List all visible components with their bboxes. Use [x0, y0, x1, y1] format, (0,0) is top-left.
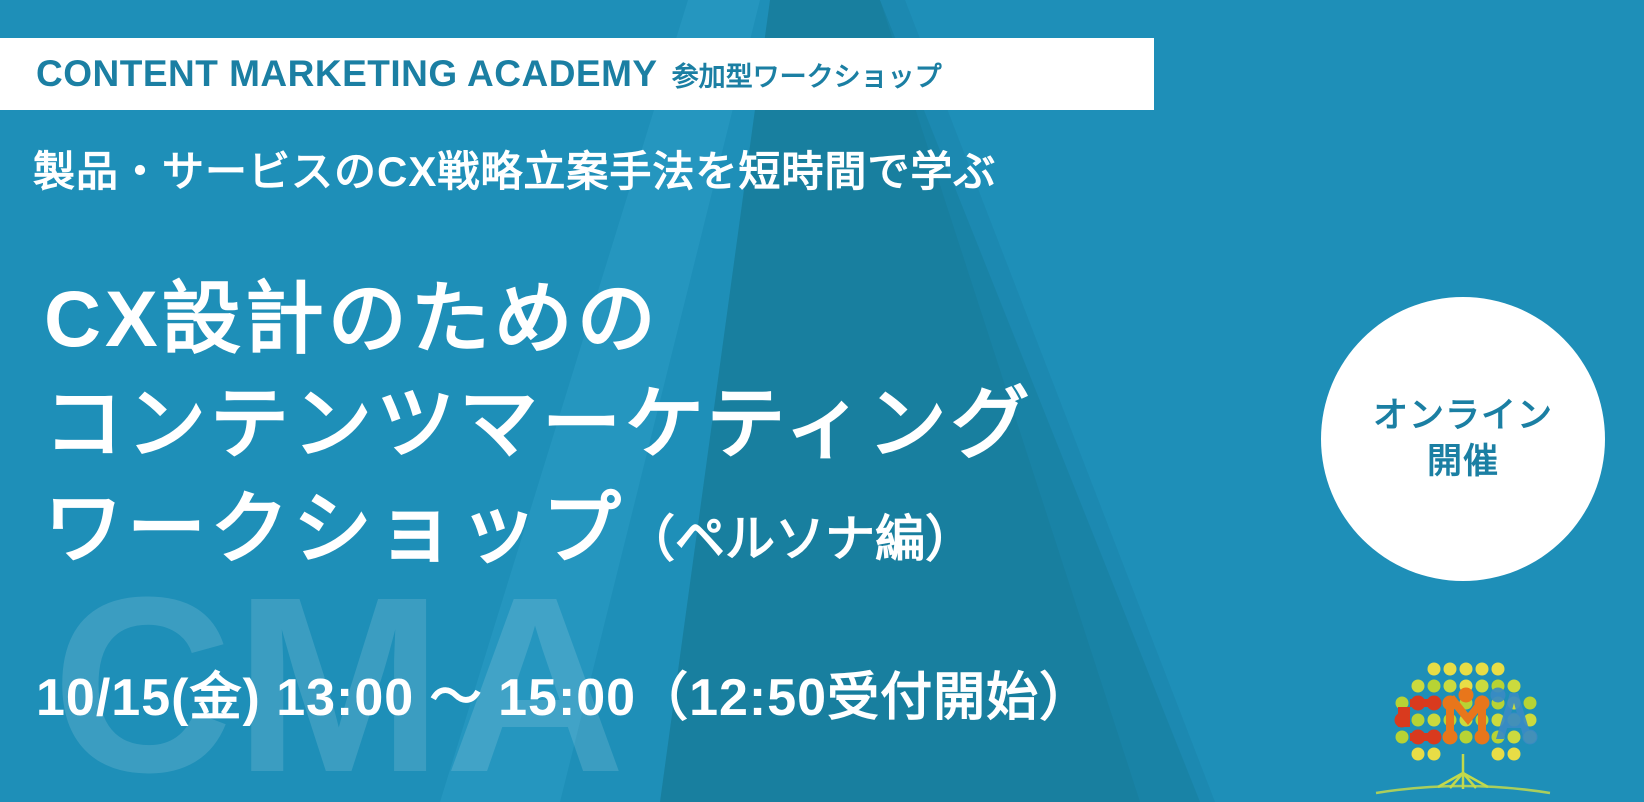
main-title-line-1: CX設計のための	[44, 266, 1034, 371]
event-poster: CMA CONTENT MARKETING ACADEMY 参加型ワークショップ…	[0, 0, 1644, 802]
online-badge-line-2: 開催	[1427, 439, 1499, 485]
header-band: CONTENT MARKETING ACADEMY 参加型ワークショップ	[0, 38, 1154, 110]
tree-trunk	[1438, 754, 1488, 789]
main-title-line-2: コンテンツマーケティング	[44, 371, 1034, 476]
main-title: CX設計のための コンテンツマーケティング ワークショップ（ペルソナ編）	[44, 266, 1034, 581]
cma-tree-logo	[1368, 645, 1558, 802]
header-title-japanese: 参加型ワークショップ	[672, 55, 942, 94]
online-badge-line-1: オンライン	[1373, 393, 1553, 439]
main-title-line-3-sub: （ペルソナ編）	[625, 511, 975, 567]
subtitle-text: 製品・サービスのCX戦略立案手法を短時間で学ぶ	[33, 138, 996, 199]
schedule-text: 10/15(金) 13:00 〜 15:00（12:50受付開始）	[36, 655, 1092, 730]
main-title-line-3: ワークショップ（ペルソナ編）	[44, 476, 1034, 581]
tree-ground-line	[1376, 786, 1550, 793]
cma-tree-logo-icon	[1368, 645, 1558, 802]
main-title-line-3-main: ワークショップ	[44, 484, 625, 573]
header-title-english: CONTENT MARKETING ACADEMY	[36, 53, 658, 95]
online-badge: オンライン 開催	[1321, 297, 1605, 581]
